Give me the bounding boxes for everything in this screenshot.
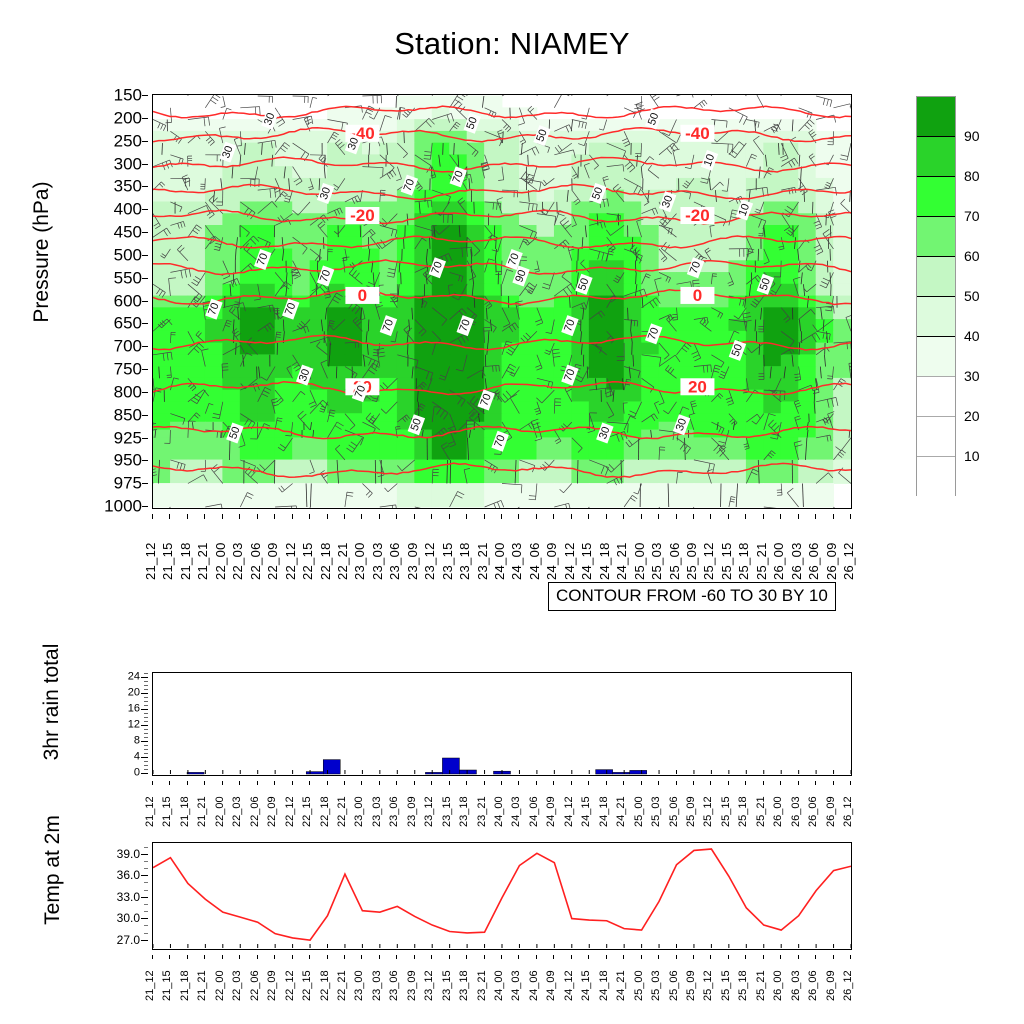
main-y-tick-mark xyxy=(142,232,148,233)
x-axis-tick-mark xyxy=(344,955,345,959)
x-axis-tick-label: 25_03 xyxy=(651,796,662,827)
x-axis-tick-label: 22_15 xyxy=(302,970,313,1001)
x-axis-tick-mark xyxy=(484,955,485,959)
humidity-shade-cell xyxy=(641,190,659,203)
x-axis-tick-label: 22_00 xyxy=(215,796,226,827)
humidity-shade-cell xyxy=(188,319,206,332)
humidity-shade-cell xyxy=(240,272,258,285)
humidity-shade-cell xyxy=(641,143,659,156)
humidity-shade-cell xyxy=(170,354,188,367)
humidity-shade-cell xyxy=(240,401,258,414)
humidity-shade-cell xyxy=(310,201,328,214)
humidity-shade-cell xyxy=(188,225,206,238)
x-axis-tick-mark xyxy=(152,514,153,519)
humidity-shade-cell xyxy=(537,284,555,297)
humidity-shade-cell xyxy=(467,201,485,214)
wind-barb-feather xyxy=(673,320,678,321)
humidity-shade-cell xyxy=(275,154,293,167)
humidity-shade-cell xyxy=(275,483,293,507)
x-axis-tick-label: 22_12 xyxy=(284,542,297,580)
humidity-shade-cell xyxy=(414,437,432,460)
humidity-shade-cell xyxy=(432,390,450,403)
humidity-shade-cell xyxy=(711,319,729,332)
humidity-shade-cell xyxy=(484,331,502,344)
x-axis-tick-label: 26_00 xyxy=(773,796,784,827)
humidity-shade-cell xyxy=(781,437,799,460)
humidity-shade-cell xyxy=(240,413,258,422)
humidity-shade-cell xyxy=(153,483,171,507)
humidity-shade-cell xyxy=(519,422,537,431)
humidity-shade-cell xyxy=(257,307,275,320)
humidity-shade-cell xyxy=(537,413,555,422)
humidity-shade-cell xyxy=(484,178,502,191)
humidity-shade-cell xyxy=(816,166,834,179)
humidity-shade-cell xyxy=(694,483,712,507)
humidity-shade-cell xyxy=(833,225,851,238)
colorbar-tick-label: 70 xyxy=(964,209,980,223)
humidity-shade-cell xyxy=(449,296,467,309)
colorbar-tick-label: 80 xyxy=(964,169,980,183)
humidity-shade-cell xyxy=(763,178,781,191)
main-y-tick-mark xyxy=(142,483,148,484)
wind-barb-feather xyxy=(693,283,700,284)
x-axis-tick-mark xyxy=(169,955,170,959)
humidity-shade-cell xyxy=(624,437,642,460)
humidity-colorbar-labels: 908070605040302010 xyxy=(964,96,1020,496)
rain-y-minor-tick xyxy=(144,705,148,706)
x-axis-tick-mark xyxy=(379,955,380,959)
isotherm-label: 20 xyxy=(688,377,707,396)
x-axis-tick-label: 22_09 xyxy=(266,542,279,580)
colorbar-tick-label: 30 xyxy=(964,369,980,383)
x-axis-tick-mark xyxy=(239,514,240,519)
x-axis-tick-mark xyxy=(553,514,554,519)
humidity-shade-cell xyxy=(676,319,694,332)
humidity-shade-cell xyxy=(798,237,816,250)
main-y-tick-label: 300 xyxy=(114,155,142,172)
x-axis-tick-label: 22_18 xyxy=(319,542,332,580)
x-axis-tick-label: 21_18 xyxy=(180,970,191,1001)
humidity-shade-cell xyxy=(816,272,834,285)
x-axis-tick-label: 26_00 xyxy=(773,970,784,1001)
humidity-shade-cell xyxy=(624,390,642,403)
main-y-tick-mark xyxy=(142,460,148,461)
x-axis-tick-mark xyxy=(204,781,205,785)
humidity-shade-cell xyxy=(449,366,467,379)
x-axis-tick-label: 24_00 xyxy=(494,970,505,1001)
humidity-shade-cell xyxy=(763,296,781,309)
humidity-shade-cell xyxy=(519,119,537,132)
main-y-tick-mark xyxy=(142,301,148,302)
humidity-shade-cell xyxy=(170,166,188,179)
main-y-tick-label: 150 xyxy=(114,87,142,104)
main-y-tick-label: 950 xyxy=(114,452,142,469)
humidity-shade-cell xyxy=(345,166,363,179)
humidity-shade-cell xyxy=(606,437,624,460)
humidity-shade-cell xyxy=(781,319,799,332)
humidity-shade-cell xyxy=(188,437,206,460)
humidity-shade-cell xyxy=(362,413,380,422)
humidity-shade-cell xyxy=(816,390,834,403)
humidity-shade-cell xyxy=(327,131,345,144)
humidity-shade-cell xyxy=(310,437,328,460)
isotherm-label: -40 xyxy=(685,124,710,143)
x-axis-tick-mark xyxy=(414,514,415,519)
humidity-shade-cell xyxy=(292,437,310,460)
humidity-shade-cell xyxy=(222,225,240,238)
humidity-shade-cell xyxy=(624,272,642,285)
colorbar-tick-label: 20 xyxy=(964,409,980,423)
humidity-shade-cell xyxy=(292,354,310,367)
humidity-shade-cell xyxy=(170,154,188,167)
humidity-shade-cell xyxy=(257,166,275,179)
humidity-shade-cell xyxy=(292,260,310,273)
temp-y-tick-mark xyxy=(141,940,148,941)
humidity-shade-cell xyxy=(798,225,816,238)
x-axis-tick-mark xyxy=(606,955,607,959)
x-axis-tick-label: 23_21 xyxy=(477,796,488,827)
main-x-axis-labels: 21_1221_1521_1821_2122_0022_0322_0622_09… xyxy=(152,514,852,582)
humidity-shade-cell xyxy=(641,249,659,262)
humidity-shade-cell xyxy=(502,413,520,422)
x-axis-tick-label: 22_09 xyxy=(267,796,278,827)
humidity-shade-cell xyxy=(205,483,223,507)
humidity-shade-cell xyxy=(345,107,363,120)
rain-y-tick-mark xyxy=(141,773,148,774)
wind-barb-feather xyxy=(827,376,832,377)
x-axis-tick-label: 24_09 xyxy=(546,796,557,827)
humidity-shade-cell xyxy=(310,319,328,332)
colorbar-band xyxy=(917,457,955,497)
humidity-shade-cell xyxy=(292,249,310,262)
humidity-shade-cell xyxy=(589,225,607,238)
x-axis-tick-mark xyxy=(815,955,816,959)
humidity-shade-cell xyxy=(833,390,851,403)
x-axis-tick-label: 25_12 xyxy=(703,970,714,1001)
x-axis-tick-label: 23_15 xyxy=(442,796,453,827)
x-axis-tick-label: 22_03 xyxy=(232,970,243,1001)
rain-y-minor-tick xyxy=(144,765,148,766)
x-axis-tick-label: 21_12 xyxy=(145,970,156,1001)
humidity-shade-cell xyxy=(606,331,624,344)
temp-y-minor-tick xyxy=(144,911,148,912)
x-axis-tick-label: 25_18 xyxy=(738,796,749,827)
wind-barb-feather xyxy=(693,280,700,281)
x-axis-tick-label: 26_09 xyxy=(826,796,837,827)
humidity-shade-cell xyxy=(310,131,328,144)
rain-y-minor-tick xyxy=(144,769,148,770)
humidity-shade-cell xyxy=(170,366,188,379)
x-axis-tick-mark xyxy=(728,514,729,519)
humidity-shade-cell xyxy=(432,296,450,309)
main-y-tick-label: 250 xyxy=(114,132,142,149)
x-axis-tick-label: 22_21 xyxy=(337,970,348,1001)
humidity-shade-cell xyxy=(170,249,188,262)
humidity-shade-cell xyxy=(571,249,589,262)
x-axis-tick-mark xyxy=(518,514,519,519)
humidity-shade-cell xyxy=(414,284,432,297)
humidity-shade-cell xyxy=(746,413,764,422)
main-y-tick-label: 200 xyxy=(114,109,142,126)
humidity-shade-cell xyxy=(467,260,485,273)
humidity-shade-cell xyxy=(502,331,520,344)
x-axis-tick-mark xyxy=(379,781,380,785)
humidity-shade-cell xyxy=(537,166,555,179)
x-axis-tick-mark xyxy=(710,955,711,959)
colorbar-tick-label: 50 xyxy=(964,289,980,303)
rain-y-tick-label: 0 xyxy=(134,768,140,779)
humidity-shade-cell xyxy=(816,201,834,214)
x-axis-tick-mark xyxy=(536,781,537,785)
humidity-shade-cell xyxy=(606,143,624,156)
humidity-shade-cell xyxy=(659,178,677,191)
x-axis-tick-mark xyxy=(676,514,677,519)
humidity-shade-cell xyxy=(589,354,607,367)
x-axis-tick-label: 21_21 xyxy=(197,796,208,827)
rain-y-tick-mark xyxy=(141,677,148,678)
humidity-shade-cell xyxy=(502,119,520,132)
x-axis-tick-mark xyxy=(431,514,432,519)
x-axis-tick-mark xyxy=(449,955,450,959)
x-axis-tick-label: 22_03 xyxy=(232,796,243,827)
wind-barb-feather xyxy=(785,391,786,400)
humidity-shade-cell xyxy=(537,437,555,460)
humidity-shade-cell xyxy=(449,437,467,460)
humidity-shade-cell xyxy=(257,483,275,507)
humidity-shade-cell xyxy=(153,213,171,226)
x-axis-tick-label: 23_03 xyxy=(372,796,383,827)
humidity-shade-cell xyxy=(641,422,659,431)
humidity-shade-cell xyxy=(292,401,310,414)
x-axis-tick-label: 25_21 xyxy=(756,796,767,827)
humidity-shade-cell xyxy=(624,284,642,297)
x-axis-tick-mark xyxy=(361,955,362,959)
x-axis-tick-label: 25_09 xyxy=(685,542,698,580)
humidity-shade-cell xyxy=(205,354,223,367)
humidity-shade-cell xyxy=(205,390,223,403)
humidity-shade-cell xyxy=(676,343,694,356)
x-axis-tick-label: 24_03 xyxy=(510,542,523,580)
x-axis-tick-label: 24_03 xyxy=(511,970,522,1001)
humidity-shade-cell xyxy=(781,413,799,422)
x-axis-tick-label: 21_18 xyxy=(180,796,191,827)
x-axis-tick-label: 22_21 xyxy=(336,542,349,580)
humidity-shade-cell xyxy=(676,166,694,179)
x-axis-tick-mark xyxy=(571,781,572,785)
humidity-shade-cell xyxy=(414,307,432,320)
x-axis-tick-mark xyxy=(466,514,467,519)
wind-barb-feather xyxy=(732,144,733,153)
rain-y-minor-tick xyxy=(144,673,148,674)
humidity-shade-cell xyxy=(257,430,275,439)
x-axis-tick-mark xyxy=(414,955,415,959)
humidity-shade-cell xyxy=(240,483,258,507)
rain-bar xyxy=(596,770,613,774)
x-axis-tick-label: 22_06 xyxy=(250,970,261,1001)
x-axis-tick-label: 23_06 xyxy=(389,970,400,1001)
humidity-shade-cell xyxy=(554,390,572,403)
rain-y-minor-tick xyxy=(144,733,148,734)
x-axis-tick-label: 23_12 xyxy=(424,796,435,827)
x-axis-tick-label: 24_09 xyxy=(545,542,558,580)
x-axis-tick-label: 26_03 xyxy=(790,542,803,580)
x-axis-tick-label: 23_18 xyxy=(459,796,470,827)
x-axis-tick-mark xyxy=(396,514,397,519)
humidity-shade-cell xyxy=(624,460,642,484)
humidity-shade-cell xyxy=(833,166,851,179)
x-axis-tick-mark xyxy=(833,781,834,785)
humidity-shade-cell xyxy=(728,237,746,250)
humidity-shade-cell xyxy=(362,331,380,344)
humidity-shade-cell xyxy=(763,213,781,226)
humidity-shade-cell xyxy=(763,401,781,414)
humidity-shade-cell xyxy=(641,437,659,460)
humidity-shade-cell xyxy=(659,413,677,422)
humidity-shade-cell xyxy=(816,430,834,439)
humidity-shade-cell xyxy=(379,413,397,422)
x-axis-tick-label: 22_21 xyxy=(337,796,348,827)
humidity-shade-cell xyxy=(240,131,258,144)
humidity-shade-cell xyxy=(641,178,659,191)
x-axis-tick-mark xyxy=(292,955,293,959)
humidity-shade-cell xyxy=(432,343,450,356)
x-axis-tick-label: 25_06 xyxy=(669,796,680,827)
humidity-shade-cell xyxy=(571,430,589,439)
isotherm-label-group: 0 xyxy=(345,286,379,305)
x-axis-tick-mark xyxy=(780,781,781,785)
humidity-shade-cell xyxy=(275,131,293,144)
colorbar-tick-label: 10 xyxy=(964,449,980,463)
rain-y-minor-tick xyxy=(144,685,148,686)
humidity-shade-cell xyxy=(467,284,485,297)
humidity-shade-cell xyxy=(833,307,851,320)
x-axis-tick-label: 25_03 xyxy=(650,542,663,580)
humidity-shade-cell xyxy=(833,237,851,250)
x-axis-tick-mark xyxy=(414,781,415,785)
humidity-shade-cell xyxy=(414,460,432,484)
humidity-shade-cell xyxy=(624,201,642,214)
humidity-shade-cell xyxy=(414,249,432,262)
humidity-contour-segment xyxy=(404,131,405,143)
x-axis-tick-mark xyxy=(431,781,432,785)
humidity-shade-cell xyxy=(537,201,555,214)
x-axis-tick-mark xyxy=(641,781,642,785)
humidity-shade-cell xyxy=(624,307,642,320)
x-axis-tick-mark xyxy=(641,955,642,959)
humidity-shade-cell xyxy=(153,319,171,332)
humidity-shade-cell xyxy=(781,249,799,262)
isotherm-label: 0 xyxy=(358,286,367,305)
humidity-shade-cell xyxy=(397,225,415,238)
humidity-shade-cell xyxy=(362,401,380,414)
humidity-shade-cell xyxy=(222,119,240,132)
rain-x-axis-labels: 21_1221_1521_1821_2122_0022_0322_0622_09… xyxy=(152,781,852,829)
humidity-shade-cell xyxy=(833,331,851,344)
x-axis-tick-mark xyxy=(344,781,345,785)
humidity-shade-cell xyxy=(379,143,397,156)
humidity-shade-cell xyxy=(519,390,537,403)
x-axis-tick-mark xyxy=(763,514,764,519)
humidity-shade-cell xyxy=(345,413,363,422)
x-axis-tick-label: 21_15 xyxy=(162,970,173,1001)
humidity-shade-cell xyxy=(484,354,502,367)
humidity-shade-cell xyxy=(170,307,188,320)
humidity-shade-cell xyxy=(188,483,206,507)
humidity-shade-cell xyxy=(537,366,555,379)
humidity-shade-cell xyxy=(205,249,223,262)
humidity-shade-cell xyxy=(414,483,432,507)
humidity-shade-cell xyxy=(484,213,502,226)
humidity-shade-cell xyxy=(589,483,607,507)
humidity-shade-cell xyxy=(659,401,677,414)
humidity-shade-cell xyxy=(310,483,328,507)
humidity-shade-cell xyxy=(711,178,729,191)
humidity-shade-cell xyxy=(502,354,520,367)
x-axis-tick-label: 23_12 xyxy=(423,542,436,580)
temp-y-axis-title: Temp at 2m xyxy=(41,785,65,955)
x-axis-tick-mark xyxy=(484,514,485,519)
isotherm-label: 0 xyxy=(693,286,702,305)
x-axis-tick-label: 25_00 xyxy=(634,796,645,827)
x-axis-tick-mark xyxy=(710,514,711,519)
humidity-shade-cell xyxy=(728,437,746,460)
x-axis-tick-mark xyxy=(239,955,240,959)
humidity-shade-cell xyxy=(694,413,712,422)
humidity-shade-cell xyxy=(257,354,275,367)
humidity-shade-cell xyxy=(624,422,642,431)
humidity-shade-cell xyxy=(240,307,258,320)
temp-y-tick-mark xyxy=(141,918,148,919)
humidity-shade-cell xyxy=(414,96,432,109)
main-y-tick-label: 1000 xyxy=(104,498,142,515)
humidity-shade-cell xyxy=(659,296,677,309)
humidity-shade-cell xyxy=(641,307,659,320)
humidity-shade-cell xyxy=(641,430,659,439)
rain-y-minor-tick xyxy=(144,713,148,714)
humidity-shade-cell xyxy=(519,354,537,367)
humidity-shade-cell xyxy=(676,307,694,320)
isotherm-label: -20 xyxy=(685,206,710,225)
humidity-shade-cell xyxy=(257,343,275,356)
x-axis-tick-mark xyxy=(815,781,816,785)
humidity-shade-cell xyxy=(781,284,799,297)
humidity-shade-cell xyxy=(589,119,607,132)
x-axis-tick-label: 24_15 xyxy=(580,542,593,580)
humidity-shade-cell xyxy=(275,201,293,214)
colorbar-band xyxy=(917,297,955,337)
humidity-shade-cell xyxy=(222,354,240,367)
x-axis-tick-mark xyxy=(536,955,537,959)
rain-total-plot xyxy=(152,672,852,776)
humidity-shade-cell xyxy=(292,225,310,238)
rain-y-minor-tick xyxy=(144,689,148,690)
humidity-shade-cell xyxy=(362,483,380,507)
humidity-shade-cell xyxy=(641,213,659,226)
humidity-shade-cell xyxy=(781,378,799,391)
x-axis-tick-mark xyxy=(833,514,834,519)
humidity-shade-cell xyxy=(153,190,171,203)
x-axis-tick-label: 24_06 xyxy=(529,970,540,1001)
x-axis-tick-label: 25_18 xyxy=(737,542,750,580)
humidity-shade-cell xyxy=(153,354,171,367)
humidity-shade-cell xyxy=(275,378,293,391)
x-axis-tick-label: 25_09 xyxy=(686,796,697,827)
x-axis-tick-label: 24_18 xyxy=(599,970,610,1001)
humidity-shade-cell xyxy=(257,272,275,285)
humidity-shade-cell xyxy=(449,413,467,422)
humidity-shade-cell xyxy=(449,143,467,156)
temperature-svg xyxy=(153,843,851,949)
